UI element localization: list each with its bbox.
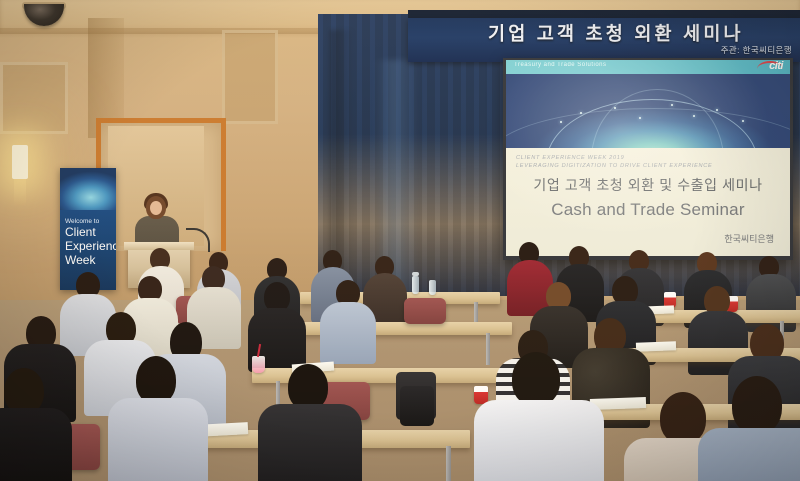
standee-line-2: Experience: [65, 240, 116, 253]
bottle-cap: [412, 272, 419, 276]
presenter-face: [150, 201, 162, 215]
person-body: [320, 302, 376, 364]
banner-title: 기업 고객 초청 외환 세미나: [488, 20, 800, 46]
backpack: [400, 386, 434, 426]
paper-handout: [636, 341, 676, 351]
person-body: [698, 428, 800, 481]
slide-organizer: 한국씨티은행: [724, 232, 774, 245]
seminar-photograph: 기업 고객 초청 외환 세미나 주관: 한국씨티은행 Treasury and …: [0, 0, 800, 481]
banner-subtitle: 주관: 한국씨티은행: [721, 44, 792, 56]
slide-division-label: Treasury and Trade Solutions: [514, 62, 607, 68]
wall-sconce-light: [12, 145, 28, 179]
standee-welcome-label: Welcome to: [65, 218, 99, 225]
person-head: [512, 352, 560, 406]
slide-kicker: CLIENT EXPERIENCE WEEK 2019 LEVERAGING D…: [516, 154, 712, 170]
person-body: [474, 400, 604, 481]
slide-kicker-line2: LEVERAGING DIGITIZATION TO DRIVE CLIENT …: [516, 162, 712, 170]
person-head: [732, 376, 782, 434]
standee-line-3: Week: [65, 254, 95, 267]
wall-panel-right: [222, 30, 278, 124]
water-bottle: [429, 280, 436, 295]
person-body: [258, 404, 362, 481]
table-leg: [446, 446, 451, 481]
chair: [404, 298, 446, 324]
event-banner: 기업 고객 초청 외환 세미나 주관: 한국씨티은행: [408, 18, 800, 62]
slide-globe-graphic: [506, 74, 790, 148]
projection-screen: Treasury and Trade Solutions citi CLIENT…: [506, 60, 790, 256]
table-leg: [486, 333, 490, 365]
person-head: [660, 392, 706, 444]
standee-globe-graphic: [60, 168, 116, 210]
slide-title-korean: 기업 고객 초청 외환 및 수출입 세미나: [506, 175, 790, 195]
person-body: [0, 408, 72, 481]
person-body: [746, 274, 796, 332]
slide-title-english: Cash and Trade Seminar: [506, 200, 790, 220]
standee-line-1: Client: [65, 226, 96, 239]
iced-drink-cup: [252, 356, 265, 373]
person-head: [136, 356, 176, 404]
person-body: [108, 398, 208, 481]
slide-brand-bar: Treasury and Trade Solutions citi: [506, 60, 790, 74]
citi-logo: citi: [769, 60, 783, 72]
water-bottle: [412, 276, 419, 294]
sconce-base: [14, 179, 26, 205]
wall-panel-left: [0, 62, 68, 134]
slide-kicker-line1: CLIENT EXPERIENCE WEEK 2019: [516, 154, 712, 162]
